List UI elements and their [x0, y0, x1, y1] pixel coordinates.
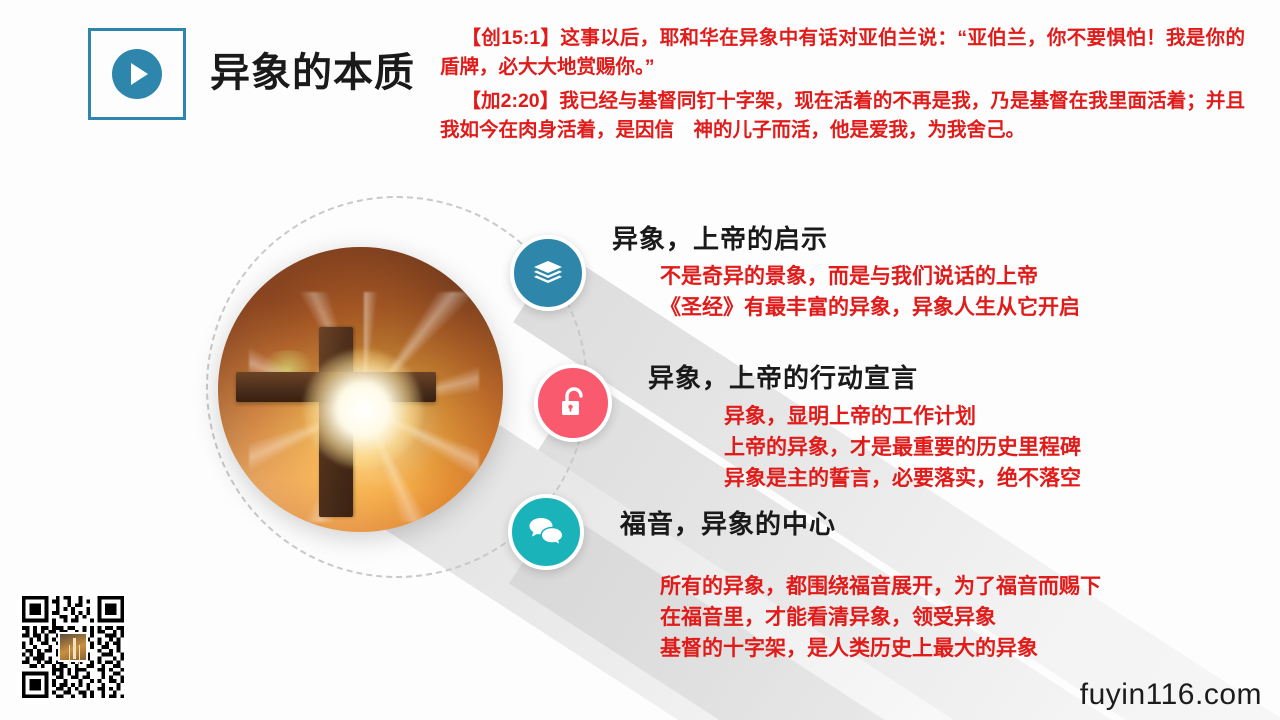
section-1-body: 不是奇异的景象，而是与我们说话的上帝 《圣经》有最丰富的异象，异象人生从它开启 [660, 261, 1080, 323]
scripture-block: 【创15:1】这事以后，耶和华在异象中有话对亚伯兰说：“亚伯兰，你不要惧怕！我是… [440, 24, 1245, 149]
section-3-body: 所有的异象，都围绕福音展开，为了福音而赐下 在福音里，才能看清异象，领受异象 基… [660, 571, 1101, 664]
sun-glow [303, 349, 423, 469]
brand-logo [88, 28, 186, 120]
section-2-heading: 异象，上帝的行动宣言 [648, 358, 1081, 395]
section-1-line-2: 《圣经》有最丰富的异象，异象人生从它开启 [660, 292, 1080, 323]
logo-frame-bottom [88, 117, 186, 120]
section-2-icon-badge[interactable] [534, 364, 612, 442]
logo-frame-top [88, 28, 186, 31]
logo-frame-right [183, 28, 186, 120]
page-title: 异象的本质 [210, 40, 415, 98]
site-watermark: fuyin116.com [1080, 678, 1262, 712]
section-2-line-3: 异象是主的誓言，必要落实，绝不落空 [724, 463, 1081, 494]
scripture-verse-1: 【创15:1】这事以后，耶和华在异象中有话对亚伯兰说：“亚伯兰，你不要惧怕！我是… [440, 24, 1245, 83]
chat-bubbles-icon [527, 515, 565, 549]
section-2-body: 异象，显明上帝的工作计划 上帝的异象，才是最重要的历史里程碑 异象是主的誓言，必… [724, 401, 1081, 494]
section-2-line-2: 上帝的异象，才是最重要的历史里程碑 [724, 432, 1081, 463]
section-1-icon-badge[interactable] [510, 235, 586, 311]
section-3-line-2: 在福音里，才能看清异象，领受异象 [660, 602, 1101, 633]
layers-icon [530, 255, 566, 291]
section-3: 福音，异象的中心 所有的异象，都围绕福音展开，为了福音而赐下 在福音里，才能看清… [620, 504, 1101, 664]
section-3-icon-badge[interactable] [508, 494, 584, 570]
section-1: 异象，上帝的启示 不是奇异的景象，而是与我们说话的上帝 《圣经》有最丰富的异象，… [612, 219, 1080, 323]
cross-sunrise-photo [218, 247, 503, 532]
slide-canvas: 异象的本质 【创15:1】这事以后，耶和华在异象中有话对亚伯兰说：“亚伯兰，你不… [0, 0, 1280, 720]
section-3-heading: 福音，异象的中心 [620, 504, 1101, 541]
qr-code[interactable] [18, 592, 128, 702]
play-button-icon [112, 49, 162, 99]
section-1-heading: 异象，上帝的启示 [612, 219, 1080, 256]
logo-frame-left [88, 28, 91, 120]
scripture-verse-2: 【加2:20】我已经与基督同钉十字架，现在活着的不再是我，乃是基督在我里面活着；… [440, 87, 1245, 146]
unlock-icon [555, 384, 591, 422]
section-3-line-3: 基督的十字架，是人类历史上最大的异象 [660, 633, 1101, 664]
section-3-line-1: 所有的异象，都围绕福音展开，为了福音而赐下 [660, 571, 1101, 602]
qr-center-logo [58, 632, 88, 662]
section-1-line-1: 不是奇异的景象，而是与我们说话的上帝 [660, 261, 1080, 292]
section-2-line-1: 异象，显明上帝的工作计划 [724, 401, 1081, 432]
section-2: 异象，上帝的行动宣言 异象，显明上帝的工作计划 上帝的异象，才是最重要的历史里程… [648, 358, 1081, 494]
